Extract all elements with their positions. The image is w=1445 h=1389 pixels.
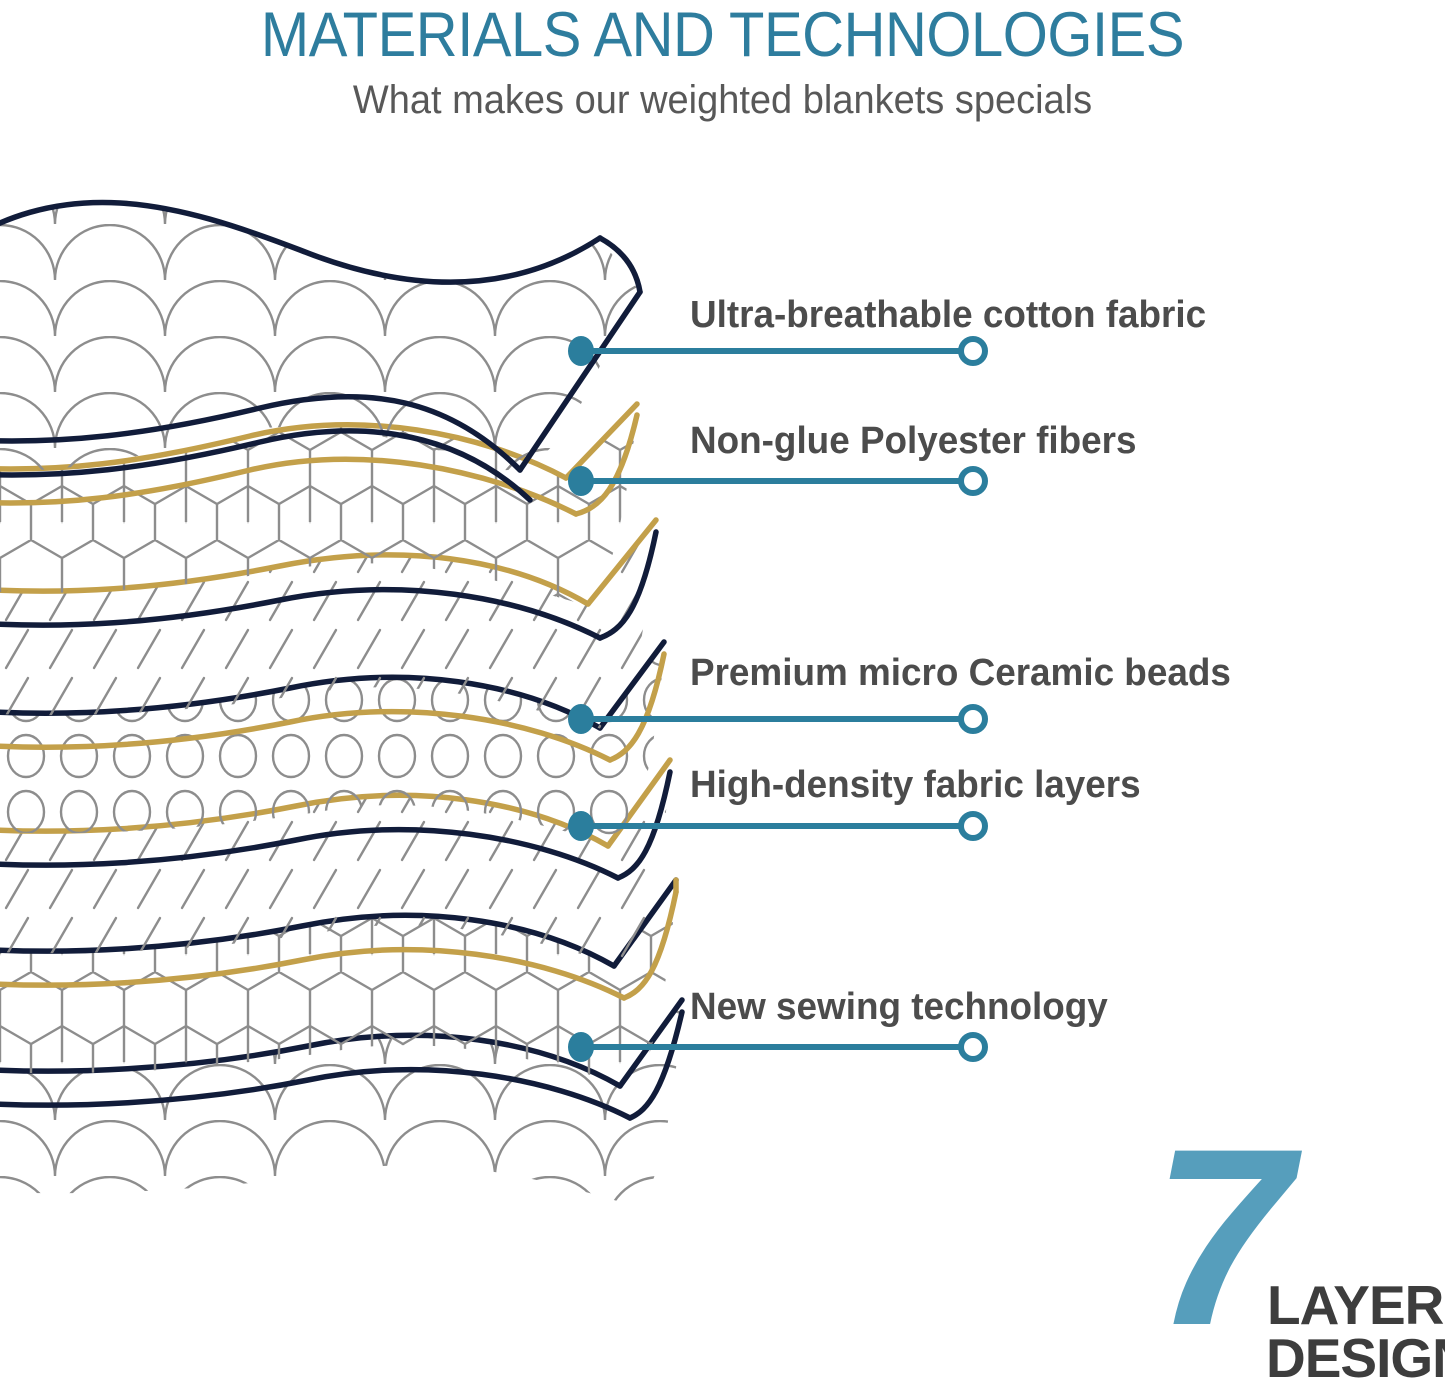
- connector-dot-5: [568, 1032, 594, 1062]
- connector-line-2[interactable]: [568, 466, 985, 496]
- connector-ring-1: [961, 339, 985, 363]
- badge-word-design: DESIGN: [1266, 1331, 1445, 1386]
- callout-label-non-glue-polyester-fibers: Non-glue Polyester fibers: [690, 420, 1137, 462]
- connector-ring-2: [961, 469, 985, 493]
- connector-line-1[interactable]: [568, 336, 985, 366]
- connector-dot-4: [568, 811, 594, 841]
- connector-ring-3: [961, 707, 985, 731]
- callout-label-ultra-breathable-cotton-fabric: Ultra-breathable cotton fabric: [690, 294, 1206, 336]
- connector-ring-4: [961, 814, 985, 838]
- connector-dot-3: [568, 704, 594, 734]
- seven-layer-design-badge: 7 LAYER DESIGN: [1152, 1138, 1445, 1372]
- connector-dot-1: [568, 336, 594, 366]
- callout-label-new-sewing-technology: New sewing technology: [690, 986, 1108, 1028]
- badge-word-layer: LAYER: [1267, 1278, 1443, 1333]
- callout-label-high-density-fabric-layers: High-density fabric layers: [690, 764, 1141, 806]
- callout-label-premium-micro-ceramic-beads: Premium micro Ceramic beads: [690, 652, 1231, 694]
- connector-ring-5: [961, 1035, 985, 1059]
- connector-dot-2: [568, 466, 594, 496]
